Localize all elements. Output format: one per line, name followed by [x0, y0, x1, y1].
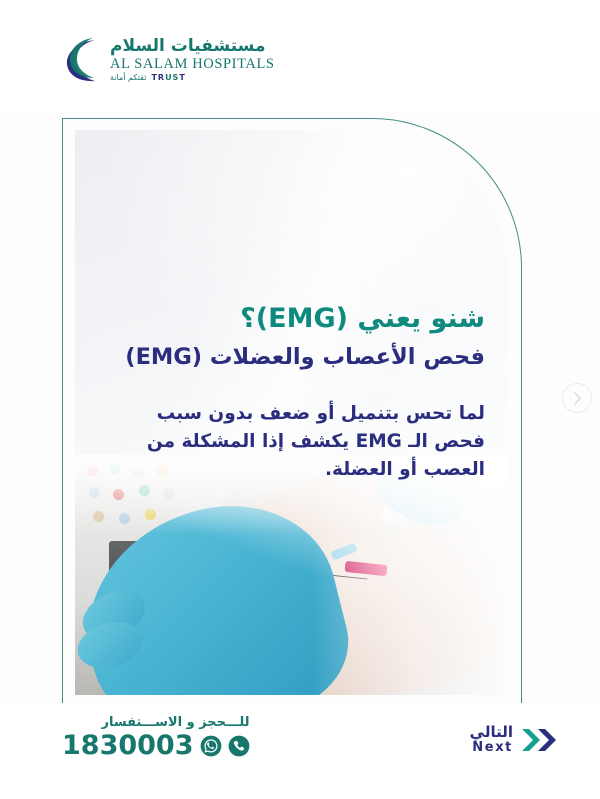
page-footer: للـــحجز و الاســـتفسار 1830003	[0, 703, 600, 799]
body-line: لما تحس بتنميل أو ضعف بدون سبب	[97, 400, 485, 428]
headline-block: شنو يعني (EMG)؟ فحص الأعصاب والعضلات (EM…	[97, 302, 485, 372]
brand-tagline: TRUST ثقتكم أمانة	[110, 74, 186, 82]
crescent-icon	[62, 36, 102, 84]
body-line: فحص الـ EMG يكشف إذا المشكلة من	[97, 428, 485, 456]
chevron-right-icon[interactable]	[562, 383, 592, 413]
brand-tagline-arabic: ثقتكم أمانة	[110, 74, 146, 82]
contact-block: للـــحجز و الاســـتفسار 1830003	[62, 715, 250, 759]
phone-circle-icon[interactable]	[228, 735, 250, 757]
brand-name-english: AL SALAM HOSPITALS	[110, 57, 275, 72]
contact-label: للـــحجز و الاســـتفسار	[62, 715, 250, 730]
next-button-labels: التالي Next	[470, 725, 513, 754]
next-label-arabic: التالي	[470, 725, 513, 741]
infographic-page: مستشفيات السلام AL SALAM HOSPITALS TRUST…	[0, 0, 600, 799]
page-header: مستشفيات السلام AL SALAM HOSPITALS TRUST…	[0, 0, 600, 110]
contact-row: 1830003	[62, 732, 250, 759]
brand-wordmark: مستشفيات السلام AL SALAM HOSPITALS TRUST…	[110, 38, 275, 83]
emg-procedure-photo	[75, 455, 507, 695]
brand-logo: مستشفيات السلام AL SALAM HOSPITALS TRUST…	[62, 36, 275, 84]
headline-secondary: فحص الأعصاب والعضلات (EMG)	[97, 343, 485, 372]
brand-name-arabic: مستشفيات السلام	[110, 38, 266, 55]
phone-number[interactable]: 1830003	[62, 732, 194, 759]
body-line: العصب أو العضلة.	[97, 456, 485, 484]
headline-primary: شنو يعني (EMG)؟	[97, 302, 485, 336]
next-label-english: Next	[472, 741, 513, 755]
brand-tagline-english: TRUST	[151, 74, 185, 82]
whatsapp-icon[interactable]	[200, 735, 222, 757]
next-button[interactable]: التالي Next	[470, 725, 558, 754]
card-copy: شنو يعني (EMG)؟ فحص الأعصاب والعضلات (EM…	[75, 130, 507, 484]
body-text-block: لما تحس بتنميل أو ضعف بدون سبب فحص الـ E…	[97, 400, 485, 484]
double-chevron-right-icon[interactable]	[520, 727, 558, 753]
